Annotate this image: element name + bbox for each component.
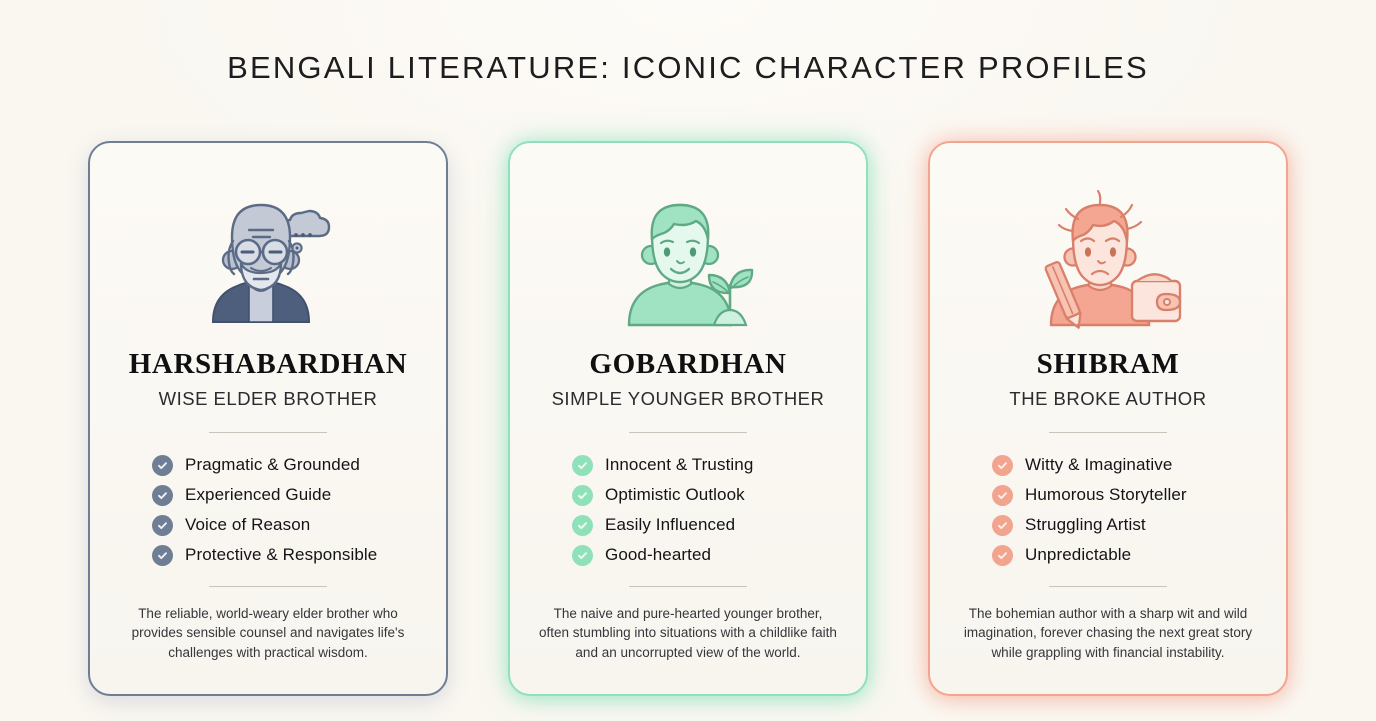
character-description: The naive and pure-hearted younger broth…	[538, 604, 838, 663]
character-card-shibram[interactable]: SHIBRAM THE BROKE AUTHOR Witty & Imagina…	[928, 141, 1288, 696]
character-role: WISE ELDER BROTHER	[159, 388, 378, 410]
character-description: The reliable, world-weary elder brother …	[118, 604, 418, 663]
character-name: HARSHABARDHAN	[129, 349, 408, 381]
character-role: SIMPLE YOUNGER BROTHER	[552, 388, 825, 410]
page-title: BENGALI LITERATURE: ICONIC CHARACTER PRO…	[0, 50, 1376, 86]
young-man-with-sprout-avatar	[613, 189, 763, 335]
trait-label: Witty & Imaginative	[1025, 455, 1172, 475]
divider-bottom	[209, 586, 327, 587]
check-circle-icon	[992, 545, 1013, 566]
divider-bottom	[629, 586, 747, 587]
trait-item: Easily Influenced	[572, 515, 804, 536]
check-circle-icon	[992, 515, 1013, 536]
trait-item: Unpredictable	[992, 545, 1224, 566]
check-circle-icon	[572, 545, 593, 566]
divider-bottom	[1049, 586, 1167, 587]
trait-label: Easily Influenced	[605, 515, 735, 535]
trait-item: Protective & Responsible	[152, 545, 384, 566]
divider-top	[629, 432, 747, 433]
trait-label: Voice of Reason	[185, 515, 310, 535]
check-circle-icon	[572, 455, 593, 476]
trait-list: Witty & Imaginative Humorous Storyteller…	[956, 455, 1260, 566]
divider-top	[209, 432, 327, 433]
character-description: The bohemian author with a sharp wit and…	[958, 604, 1258, 663]
trait-item: Witty & Imaginative	[992, 455, 1224, 476]
elder-man-thinking-avatar	[193, 189, 343, 335]
trait-item: Experienced Guide	[152, 485, 384, 506]
check-circle-icon	[152, 485, 173, 506]
worried-author-with-pencil-and-wallet-avatar	[1033, 189, 1183, 335]
trait-label: Good-hearted	[605, 545, 711, 565]
trait-item: Innocent & Trusting	[572, 455, 804, 476]
infographic-page: BENGALI LITERATURE: ICONIC CHARACTER PRO…	[0, 0, 1376, 721]
trait-label: Unpredictable	[1025, 545, 1131, 565]
character-name: GOBARDHAN	[589, 349, 786, 381]
trait-list: Innocent & Trusting Optimistic Outlook E…	[536, 455, 840, 566]
trait-item: Optimistic Outlook	[572, 485, 804, 506]
check-circle-icon	[572, 515, 593, 536]
character-role: THE BROKE AUTHOR	[1009, 388, 1206, 410]
character-card-harshabardhan[interactable]: HARSHABARDHAN WISE ELDER BROTHER Pragmat…	[88, 141, 448, 696]
trait-item: Struggling Artist	[992, 515, 1224, 536]
character-card-list: HARSHABARDHAN WISE ELDER BROTHER Pragmat…	[88, 141, 1288, 696]
trait-label: Protective & Responsible	[185, 545, 377, 565]
trait-item: Voice of Reason	[152, 515, 384, 536]
check-circle-icon	[572, 485, 593, 506]
check-circle-icon	[992, 485, 1013, 506]
trait-label: Innocent & Trusting	[605, 455, 753, 475]
trait-label: Experienced Guide	[185, 485, 331, 505]
trait-label: Struggling Artist	[1025, 515, 1146, 535]
check-circle-icon	[152, 455, 173, 476]
trait-label: Optimistic Outlook	[605, 485, 745, 505]
check-circle-icon	[152, 545, 173, 566]
trait-item: Humorous Storyteller	[992, 485, 1224, 506]
character-card-gobardhan[interactable]: GOBARDHAN SIMPLE YOUNGER BROTHER Innocen…	[508, 141, 868, 696]
trait-item: Pragmatic & Grounded	[152, 455, 384, 476]
check-circle-icon	[152, 515, 173, 536]
check-circle-icon	[992, 455, 1013, 476]
trait-item: Good-hearted	[572, 545, 804, 566]
character-name: SHIBRAM	[1037, 349, 1180, 381]
trait-list: Pragmatic & Grounded Experienced Guide V…	[116, 455, 420, 566]
trait-label: Humorous Storyteller	[1025, 485, 1187, 505]
trait-label: Pragmatic & Grounded	[185, 455, 360, 475]
divider-top	[1049, 432, 1167, 433]
